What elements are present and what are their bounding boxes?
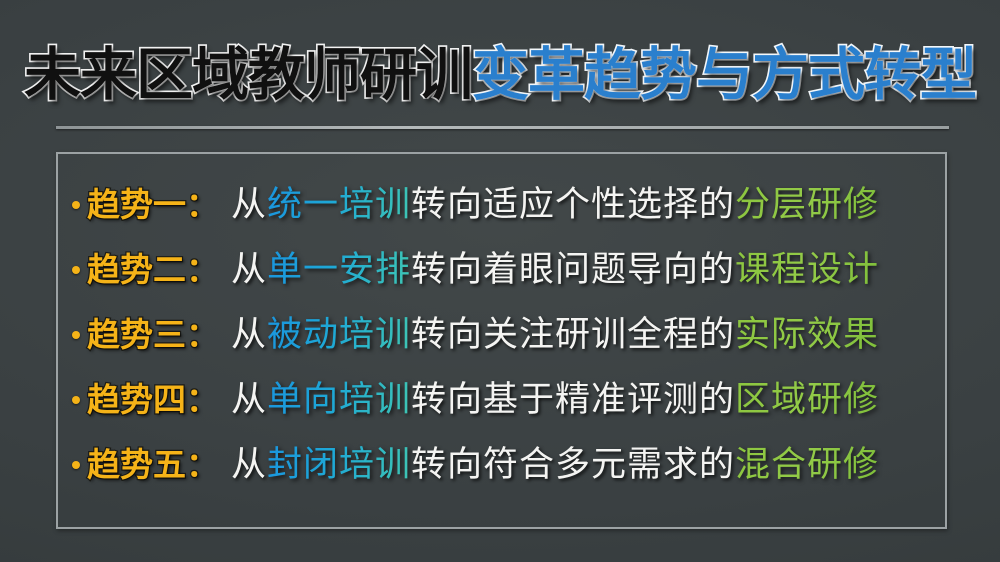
bullet-dot-icon	[72, 461, 80, 469]
trend-label: 趋势二：	[87, 243, 219, 291]
trend-list: 趋势一：从统一培训转向适应个性选择的分层研修趋势二：从单一安排转向着眼问题导向的…	[58, 154, 949, 531]
trend-text: 从被动培训转向关注研训全程的实际效果	[231, 306, 879, 357]
trend-text-segment-plain: 从	[231, 185, 267, 224]
trend-text-segment-blue: 单一安排	[267, 250, 411, 289]
slide-canvas: 未来区域教师研训 变革趋势与方式转型 趋势一：从统一培训转向适应个性选择的分层研…	[0, 0, 1000, 562]
trend-label: 趋势四：	[87, 373, 219, 421]
trend-text-segment-plain: 转向基于精准评测的	[411, 380, 735, 419]
trend-text-segment-blue: 被动培训	[267, 315, 411, 354]
trend-text: 从单向培训转向基于精准评测的区域研修	[231, 371, 879, 422]
bullet-dot-icon	[72, 201, 80, 209]
trend-text-segment-plain: 转向关注研训全程的	[411, 315, 735, 354]
trend-text-segment-plain: 从	[231, 315, 267, 354]
trend-row: 趋势五：从封闭培训转向符合多元需求的混合研修	[58, 436, 949, 501]
bullet-dot-icon	[72, 266, 80, 274]
trend-text-segment-green: 实际效果	[735, 315, 879, 354]
title-segment-blue: 变革趋势与方式转型	[472, 47, 976, 104]
bullet-dot-icon	[72, 396, 80, 404]
trend-text-segment-plain: 从	[231, 380, 267, 419]
trend-row: 趋势四：从单向培训转向基于精准评测的区域研修	[58, 371, 949, 436]
trend-text: 从封闭培训转向符合多元需求的混合研修	[231, 436, 879, 487]
trend-label: 趋势一：	[87, 178, 219, 226]
trend-label: 趋势五：	[87, 438, 219, 486]
trend-row: 趋势三：从被动培训转向关注研训全程的实际效果	[58, 306, 949, 371]
content-frame: 趋势一：从统一培训转向适应个性选择的分层研修趋势二：从单一安排转向着眼问题导向的…	[56, 152, 947, 529]
trend-text-segment-blue: 统一培训	[267, 185, 411, 224]
trend-text-segment-plain: 转向适应个性选择的	[411, 185, 735, 224]
trend-text-segment-blue: 封闭培训	[267, 445, 411, 484]
trend-text-segment-blue: 单向培训	[267, 380, 411, 419]
page-title: 未来区域教师研训 变革趋势与方式转型	[0, 34, 1000, 116]
trend-text: 从单一安排转向着眼问题导向的课程设计	[231, 241, 879, 292]
trend-text-segment-green: 课程设计	[735, 250, 879, 289]
trend-text-segment-green: 混合研修	[735, 445, 879, 484]
trend-row: 趋势二：从单一安排转向着眼问题导向的课程设计	[58, 241, 949, 306]
trend-text-segment-plain: 转向符合多元需求的	[411, 445, 735, 484]
trend-text-segment-plain: 转向着眼问题导向的	[411, 250, 735, 289]
trend-row: 趋势一：从统一培训转向适应个性选择的分层研修	[58, 176, 949, 241]
title-divider	[56, 126, 949, 129]
trend-text: 从统一培训转向适应个性选择的分层研修	[231, 176, 879, 227]
trend-text-segment-green: 分层研修	[735, 185, 879, 224]
title-segment-dark: 未来区域教师研训	[24, 47, 472, 104]
trend-text-segment-plain: 从	[231, 250, 267, 289]
bullet-dot-icon	[72, 331, 80, 339]
trend-text-segment-plain: 从	[231, 445, 267, 484]
trend-text-segment-green: 区域研修	[735, 380, 879, 419]
trend-label: 趋势三：	[87, 308, 219, 356]
